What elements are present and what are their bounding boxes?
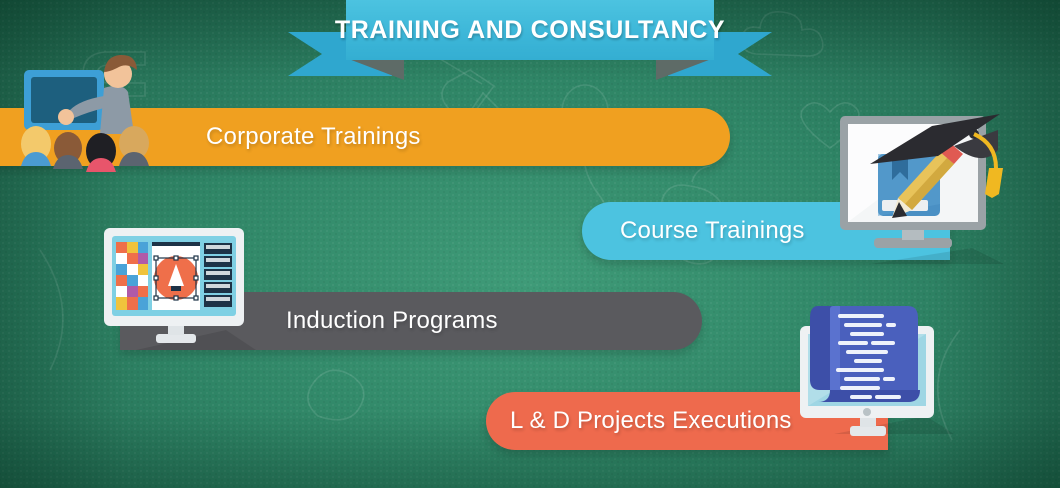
color-palette-icon [116, 242, 148, 310]
monitor-stand [850, 426, 886, 436]
page-title: TRAINING AND CONSULTANCY [335, 16, 725, 45]
infographic-canvas: TRAINING AND CONSULTANCY Corporate Train… [0, 0, 1060, 488]
monitor-document-scroll-icon [794, 292, 954, 444]
layers-panel-icon [204, 242, 232, 310]
monitor-book-graduation-cap-icon [824, 112, 1012, 264]
service-label-course-trainings: Course Trainings [620, 217, 805, 245]
title-ribbon: TRAINING AND CONSULTANCY [288, 0, 772, 76]
monitor-design-tool-icon [98, 226, 258, 354]
ribbon-band: TRAINING AND CONSULTANCY [346, 0, 714, 60]
tassel-icon [985, 168, 1003, 198]
classroom-training-illustration [8, 48, 178, 173]
trainer-body [100, 86, 134, 134]
service-label-induction-programs: Induction Programs [286, 307, 498, 335]
lightbulb-icon [308, 370, 364, 420]
service-label-l-and-d-projects-executions: L & D Projects Executions [510, 407, 792, 435]
document-scroll-icon [810, 306, 920, 402]
monitor-stand [156, 334, 196, 343]
service-label-corporate-trainings: Corporate Trainings [206, 123, 421, 151]
